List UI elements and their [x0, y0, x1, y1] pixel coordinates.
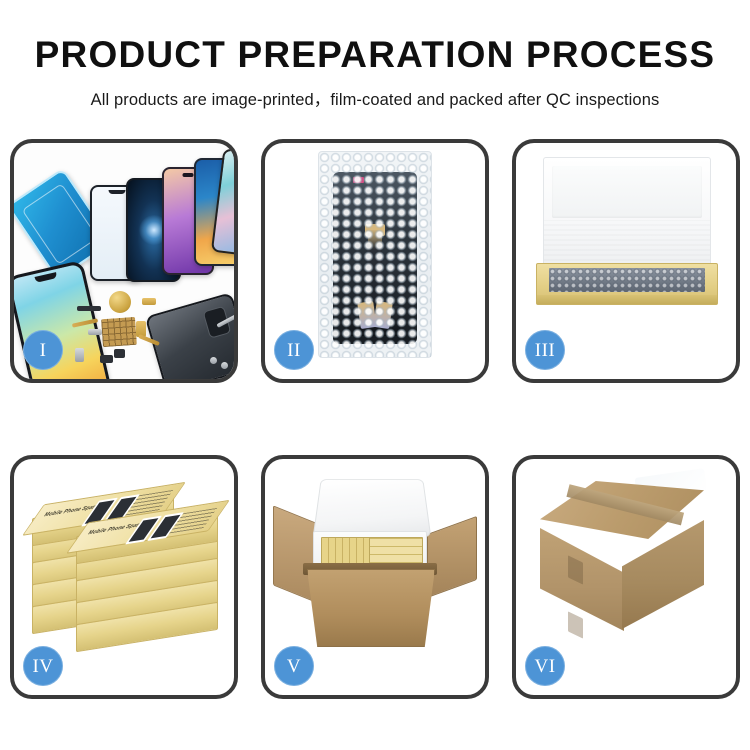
metal-bracket-icon — [88, 329, 102, 335]
earpiece-chip-icon — [77, 306, 101, 311]
step-badge-3: III — [525, 330, 565, 370]
small-part-icon — [114, 349, 125, 358]
process-step-grid: I II — [10, 139, 740, 699]
camera-module-icon — [100, 355, 113, 363]
white-foam-lid-icon — [543, 157, 711, 277]
process-step-panel-5[interactable]: V — [261, 455, 489, 699]
tray-lip — [537, 295, 717, 304]
speaker-module-icon — [109, 291, 131, 313]
process-step-panel-2[interactable]: II — [261, 139, 489, 383]
step-badge-6: VI — [525, 646, 565, 686]
step-badge-1: I — [23, 330, 63, 370]
carton-body-icon — [307, 569, 435, 647]
gold-connector-icon — [142, 298, 156, 305]
process-step-panel-1[interactable]: I — [10, 139, 238, 383]
product-preparation-infographic: PRODUCT PREPARATION PROCESS All products… — [0, 0, 750, 750]
foam-lid-open-icon — [313, 479, 432, 537]
bubble-wrap-bag-icon — [318, 151, 432, 358]
process-step-panel-6[interactable]: VI — [512, 455, 740, 699]
bubble-texture — [319, 152, 431, 357]
sim-tray-icon — [75, 348, 84, 362]
page-title: PRODUCT PREPARATION PROCESS — [0, 0, 750, 75]
process-step-panel-4[interactable]: Mobile Phone Spare Parts Mobile Phone Sp… — [10, 455, 238, 699]
process-step-panel-3[interactable]: III — [512, 139, 740, 383]
yellow-tray-box-icon — [536, 263, 718, 305]
box-stack: Mobile Phone Spare Parts Mobile Phone Sp… — [32, 485, 222, 665]
step-badge-4: IV — [23, 646, 63, 686]
screw-icon — [210, 357, 217, 364]
step-badge-2: II — [274, 330, 314, 370]
carton-flap-right-icon — [427, 516, 477, 598]
step-badge-5: V — [274, 646, 314, 686]
bubble-wrapped-contents-icon — [549, 268, 705, 292]
page-subtitle: All products are image-printed，film-coat… — [0, 75, 750, 110]
screw-icon — [221, 362, 228, 369]
carton-seam-tab-icon — [568, 611, 583, 638]
header: PRODUCT PREPARATION PROCESS All products… — [0, 0, 750, 110]
circuit-board-icon — [101, 317, 137, 347]
